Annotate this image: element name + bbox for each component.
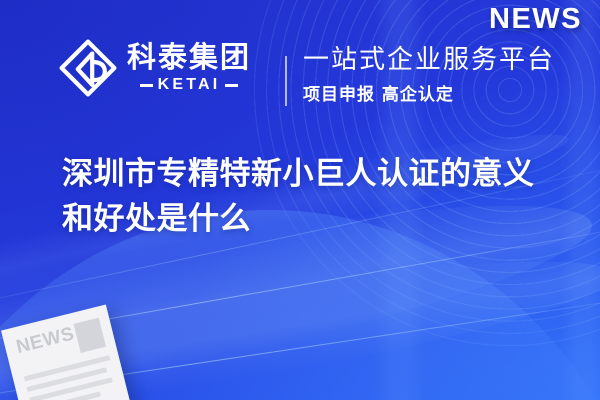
dash-left-icon xyxy=(140,84,153,87)
page-title: 深圳市专精特新小巨人认证的意义 和好处是什么 xyxy=(62,152,562,243)
brand-name-en: KETAI xyxy=(158,77,221,93)
header-tagline: 一站式企业服务平台 项目申报 高企认定 xyxy=(303,46,555,105)
tagline-sub: 项目申报 高企认定 xyxy=(303,80,555,105)
newspaper-photo-block xyxy=(74,318,106,353)
header-divider xyxy=(285,56,287,106)
page-title-line-2: 和好处是什么 xyxy=(62,197,562,242)
banner-header: 科泰集团 KETAI 一站式企业服务平台 项目申报 高企认定 NEWS xyxy=(0,0,600,124)
dash-right-icon xyxy=(225,84,238,87)
brand-name-cn: 科泰集团 xyxy=(127,43,251,72)
newspaper-illustration: NEWS xyxy=(1,304,131,400)
page-title-line-1: 深圳市专精特新小巨人认证的意义 xyxy=(62,152,562,197)
brand-name-en-row: KETAI xyxy=(140,77,239,93)
brand-wordmark: 科泰集团 KETAI xyxy=(127,43,251,93)
brand-logo[interactable]: 科泰集团 KETAI xyxy=(58,38,251,98)
news-badge: NEWS xyxy=(489,3,582,36)
ketai-diamond-kd-logo-icon xyxy=(58,38,118,98)
newspaper-headline: NEWS xyxy=(14,324,76,357)
tagline-main: 一站式企业服务平台 xyxy=(303,46,555,74)
news-banner: 科泰集团 KETAI 一站式企业服务平台 项目申报 高企认定 NEWS 深圳市专… xyxy=(0,0,600,400)
